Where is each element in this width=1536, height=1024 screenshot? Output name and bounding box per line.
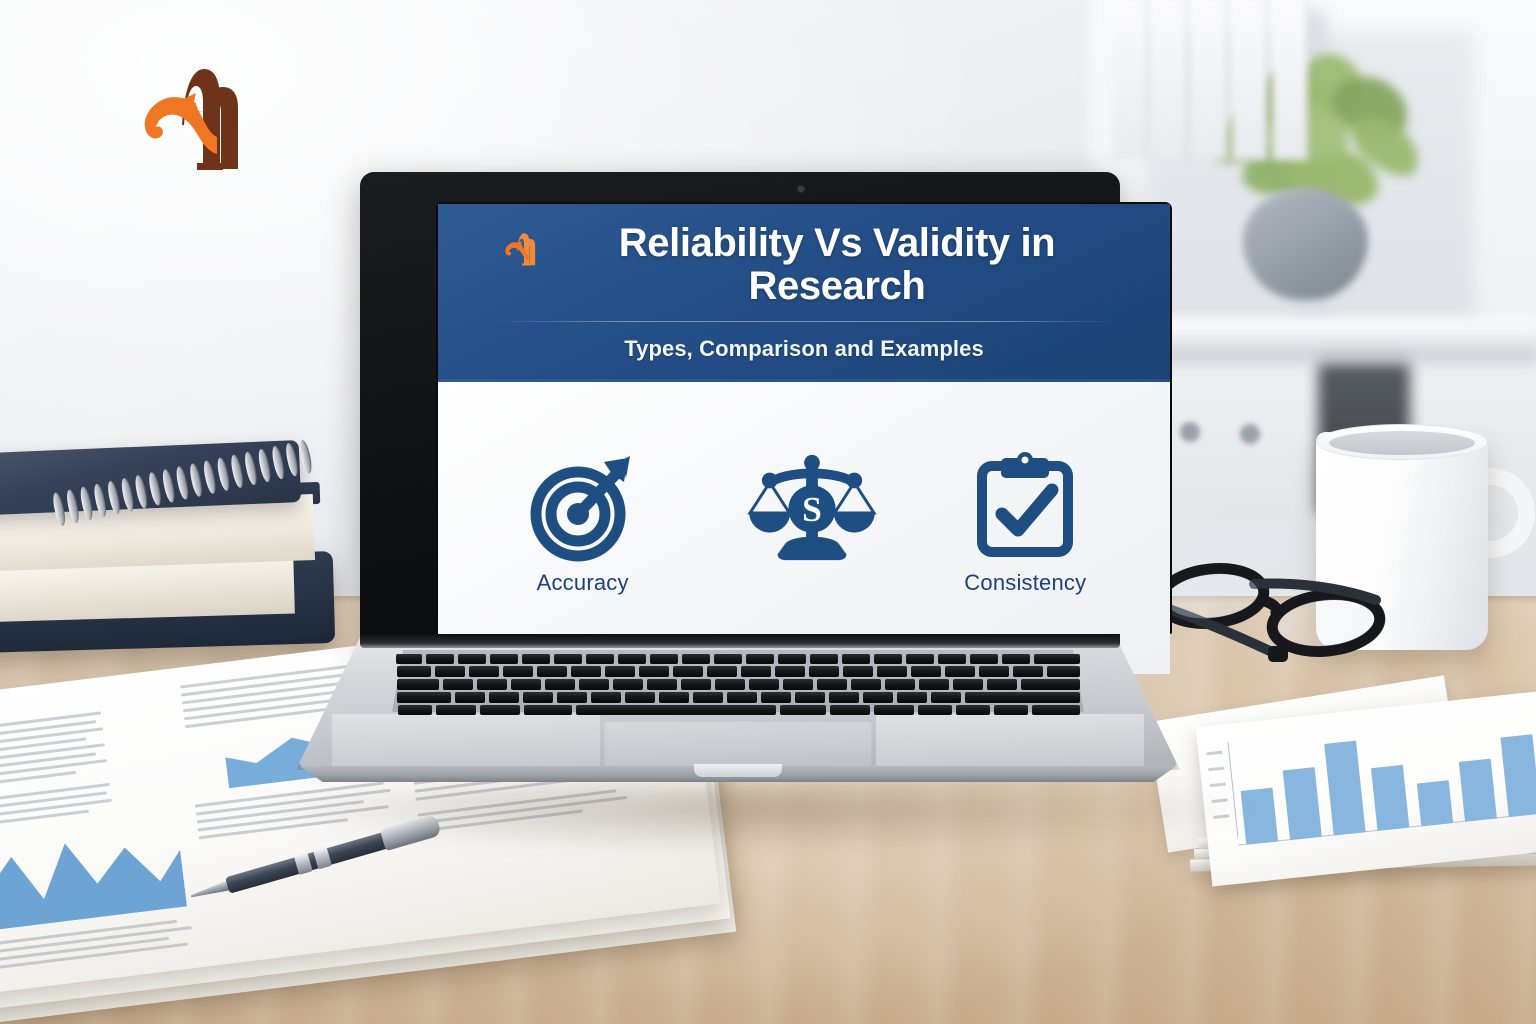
- glasses-temple-tip: [1268, 646, 1288, 662]
- chart-bar: [1283, 767, 1322, 840]
- balance-scale-icon: S: [747, 450, 861, 562]
- slide-title-row: Reliability Vs Validity in Research: [464, 222, 1144, 308]
- bar-chart-plot: [1227, 705, 1536, 846]
- laptop-lid: Reliability Vs Validity in Research Type…: [360, 172, 1120, 644]
- slide-header: Reliability Vs Validity in Research Type…: [438, 204, 1170, 382]
- slide-brand-logo-icon: [491, 226, 547, 270]
- concept-label-consistency: Consistency: [964, 570, 1086, 596]
- mug-interior: [1329, 431, 1475, 455]
- binder-ring-hole: [1180, 422, 1200, 442]
- binder: [1272, 0, 1308, 160]
- binder: [1232, 0, 1268, 160]
- keyboard[interactable]: [392, 651, 1084, 711]
- concept-label-accuracy: Accuracy: [537, 570, 629, 596]
- slide-subtitle: Types, Comparison and Examples: [464, 322, 1144, 366]
- clipboard-check-icon: [968, 452, 1082, 564]
- concept-balance: S: [719, 450, 889, 598]
- laptop-computer: Reliability Vs Validity in Research Type…: [296, 172, 1180, 822]
- glasses-bridge: [1262, 600, 1276, 612]
- report-area-chart-large: [0, 819, 187, 930]
- office-desk-scene: Reliability Vs Validity in Research Type…: [0, 0, 1536, 1024]
- chart-bar: [1459, 759, 1497, 822]
- slide-title: Reliability Vs Validity in Research: [557, 222, 1117, 308]
- brand-logo-watermark: [100, 55, 275, 175]
- laptop-screen[interactable]: Reliability Vs Validity in Research Type…: [438, 204, 1170, 674]
- slide-body: Accuracy: [438, 382, 1170, 674]
- chart-bar: [1500, 734, 1536, 817]
- binder-ring-hole: [1240, 424, 1260, 444]
- binder: [1192, 0, 1228, 160]
- plant-pot: [1243, 188, 1368, 300]
- concept-consistency: Consistency: [940, 452, 1110, 596]
- chart-bar: [1417, 780, 1453, 826]
- target-arrow-icon: [526, 452, 640, 564]
- chart-bar: [1371, 765, 1409, 831]
- laptop-front-notch: [694, 764, 782, 777]
- eyeglasses: [1150, 560, 1415, 670]
- svg-text:S: S: [802, 489, 822, 529]
- chart-bar: [1324, 741, 1365, 836]
- presentation-slide: Reliability Vs Validity in Research Type…: [438, 204, 1170, 674]
- concept-accuracy: Accuracy: [498, 452, 668, 596]
- webcam-icon: [798, 186, 804, 192]
- binder: [1152, 0, 1188, 160]
- binder: [1112, 0, 1148, 160]
- laptop-hinge: [360, 634, 1120, 648]
